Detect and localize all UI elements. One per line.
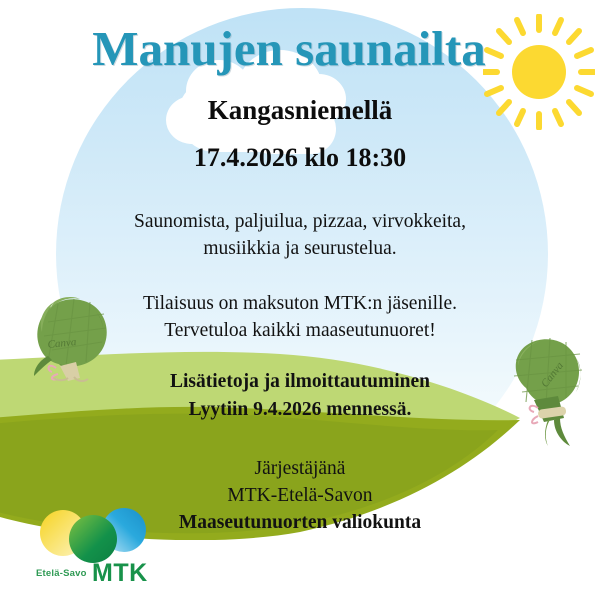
organizer-label: Järjestäjänä [0, 455, 600, 482]
mtk-logo-region: Etelä-Savo [36, 568, 87, 579]
poster-title: Manujen saunailta [0, 20, 600, 77]
poster-canvas: Canva [0, 0, 600, 600]
event-location: Kangasniemellä [0, 95, 600, 126]
activities-line-2: musiikkia ja seurustelua. [0, 235, 600, 262]
mtk-logo-wordmark: Etelä-Savo MTK [36, 560, 162, 588]
mtk-logo-brand: MTK [92, 559, 148, 588]
event-datetime: 17.4.2026 klo 18:30 [0, 143, 600, 173]
registration-paragraph: Lisätietoja ja ilmoittautuminen Lyytiin … [0, 368, 600, 424]
admission-line-2: Tervetuloa kaikki maaseutunuoret! [0, 317, 600, 344]
mtk-logo: Etelä-Savo MTK [36, 506, 162, 588]
mtk-logo-mark-icon [36, 506, 162, 564]
organizer-name: MTK-Etelä-Savon [0, 482, 600, 509]
registration-line-2: Lyytiin 9.4.2026 mennessä. [0, 396, 600, 424]
registration-line-1: Lisätietoja ja ilmoittautuminen [0, 368, 600, 396]
admission-paragraph: Tilaisuus on maksuton MTK:n jäsenille. T… [0, 290, 600, 344]
activities-paragraph: Saunomista, paljuilua, pizzaa, virvokkei… [0, 208, 600, 262]
activities-line-1: Saunomista, paljuilua, pizzaa, virvokkei… [0, 208, 600, 235]
admission-line-1: Tilaisuus on maksuton MTK:n jäsenille. [0, 290, 600, 317]
